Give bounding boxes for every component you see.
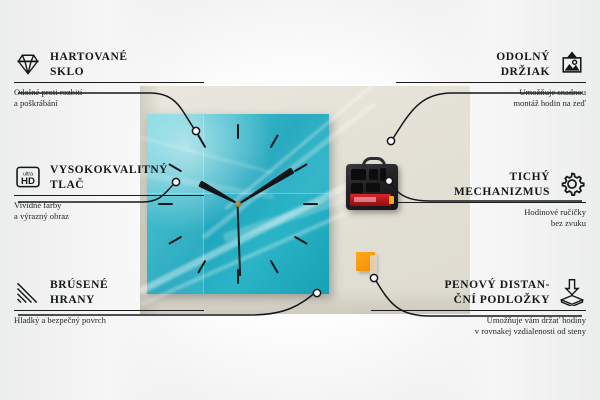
feature-title-line1: PENOVÝ DISTAN-	[444, 278, 550, 293]
feature-desc-line1: Umožňuje snadnou	[396, 87, 586, 98]
divider	[14, 82, 204, 83]
feature-desc-line2: a výrazný obraz	[14, 211, 204, 222]
feature-foam-spacers: PENOVÝ DISTAN- ČNÍ PODLOŽKY Umožňuje vám…	[371, 278, 586, 337]
feature-desc-line1: Odolné proti rozbití	[14, 87, 204, 98]
feature-desc-line1: Hodinové ručičky	[396, 207, 586, 218]
foam-spacer-pad	[356, 252, 375, 271]
clock-mechanism	[346, 164, 398, 210]
feature-desc-line1: Umožňuje vám držať hodiny	[371, 315, 586, 326]
divider	[14, 310, 204, 311]
feature-desc-line2: bez zvuku	[396, 218, 586, 229]
feature-title-line1: ODOLNÝ	[496, 50, 550, 65]
feature-tempered-glass: HARTOVANÉ SKLO Odolné proti rozbití a po…	[14, 50, 204, 109]
feature-brushed-edges: BRÚSENÉ HRANY Hladký a bezpečný povrch	[14, 278, 204, 326]
feature-desc-line2: v rovnakej vzdialenosti od steny	[371, 326, 586, 337]
feature-durable-mount: ODOLNÝ DRŽIAK Umožňuje snadnou montáž ho…	[396, 50, 586, 109]
divider	[396, 82, 586, 83]
gear-icon	[558, 170, 586, 198]
feature-title-line1: HARTOVANÉ	[50, 50, 128, 65]
feature-title-line2: TLAČ	[50, 178, 168, 193]
divider	[396, 202, 586, 203]
feature-title-line2: SKLO	[50, 65, 128, 80]
divider	[371, 310, 586, 311]
feature-title-line2: HRANY	[50, 293, 108, 308]
divider	[14, 195, 204, 196]
ultra-hd-icon: ultra HD	[14, 163, 42, 191]
feature-title-line1: VYSOKOKVALITNÝ	[50, 163, 168, 178]
feature-desc-line1: Hladký a bezpečný povrch	[14, 315, 204, 326]
clock-tick	[237, 124, 239, 204]
feature-desc-line1: Vividné farby	[14, 200, 204, 211]
brushed-edges-icon	[14, 278, 42, 306]
infographic-stage: HARTOVANÉ SKLO Odolné proti rozbití a po…	[0, 0, 600, 400]
feature-title-line2: ČNÍ PODLOŽKY	[444, 293, 550, 308]
battery	[350, 194, 391, 206]
diamond-icon	[14, 50, 42, 78]
wall-mount-icon	[558, 50, 586, 78]
clock-tick	[238, 203, 318, 205]
clock-center-cap	[235, 201, 241, 207]
feature-title-line1: TICHÝ	[454, 170, 550, 185]
feature-title-line2: MECHANIZMUS	[454, 185, 550, 200]
feature-high-quality-print: ultra HD VYSOKOKVALITNÝ TLAČ Vividné far…	[14, 163, 204, 222]
feature-desc-line2: montáž hodin na zeď	[396, 98, 586, 109]
feature-silent-mechanism: TICHÝ MECHANIZMUS Hodinové ručičky bez z…	[396, 170, 586, 229]
foam-pad-icon	[558, 278, 586, 306]
svg-text:HD: HD	[21, 176, 35, 187]
feature-title-line1: BRÚSENÉ	[50, 278, 108, 293]
feature-desc-line2: a poškrábání	[14, 98, 204, 109]
feature-title-line2: DRŽIAK	[496, 65, 550, 80]
